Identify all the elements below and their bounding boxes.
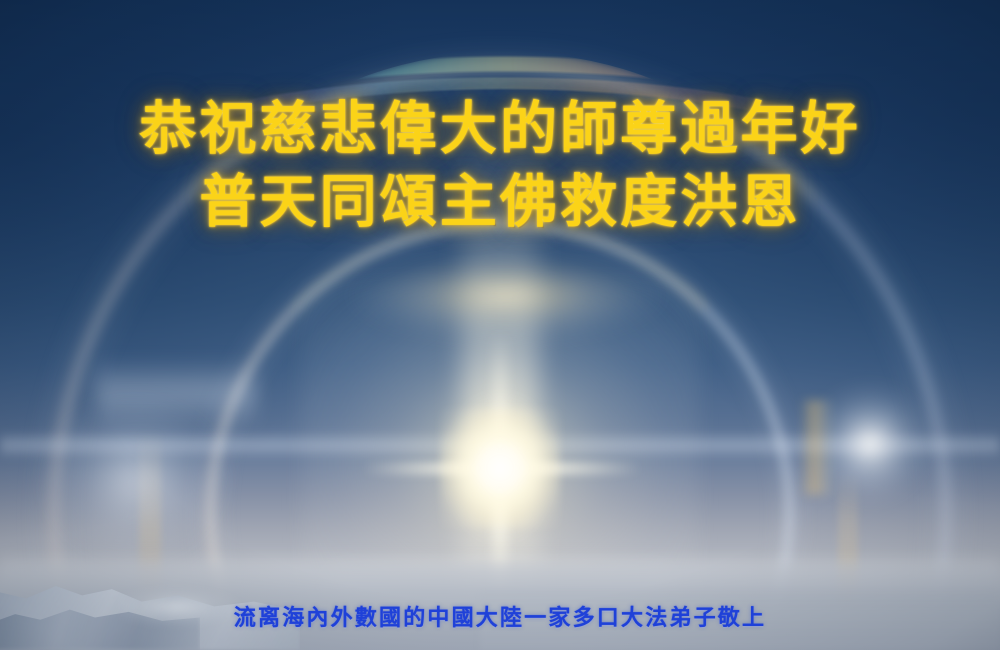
greeting-title-block: 恭祝慈悲偉大的師尊過年好 普天同頌主佛救度洪恩 bbox=[0, 100, 1000, 230]
greeting-line-2: 普天同頌主佛救度洪恩 bbox=[0, 173, 1000, 230]
signature-text: 流离海內外數國的中國大陸一家多口大法弟子敬上 bbox=[0, 600, 1000, 632]
greeting-line-1: 恭祝慈悲偉大的師尊過年好 bbox=[0, 100, 1000, 157]
greeting-card: 恭祝慈悲偉大的師尊過年好 普天同頌主佛救度洪恩 流离海內外數國的中國大陸一家多口… bbox=[0, 0, 1000, 650]
